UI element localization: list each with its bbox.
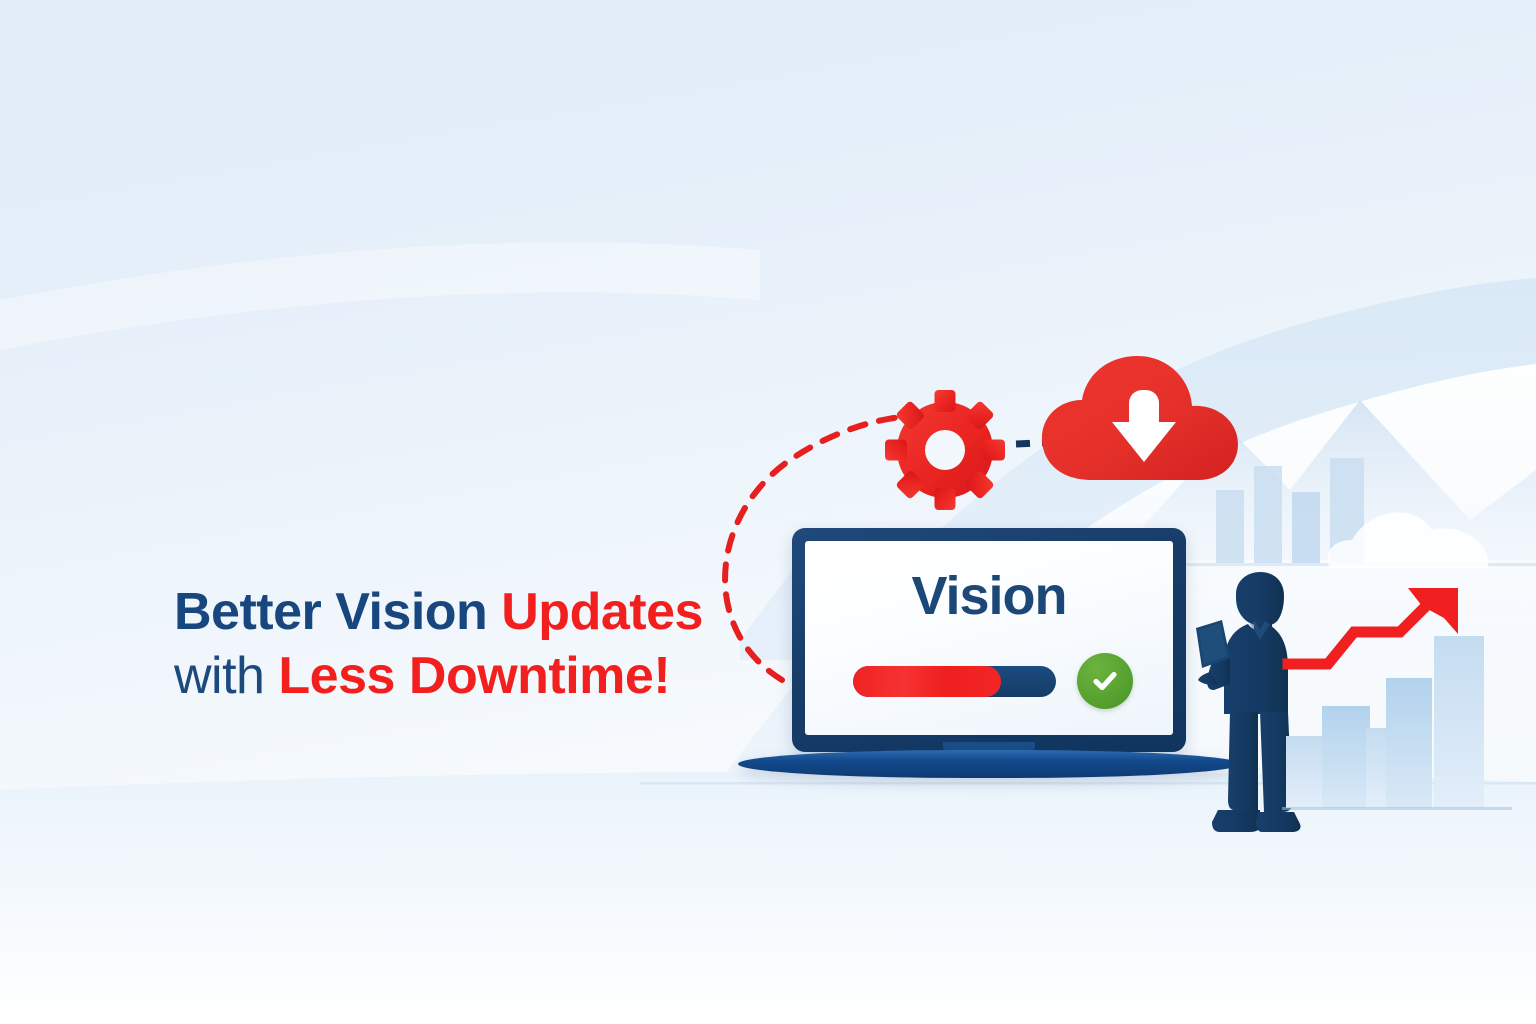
check-icon: [1089, 665, 1121, 697]
gear-icon[interactable]: [884, 389, 1006, 511]
chart-bar-5: [1434, 636, 1484, 808]
laptop-device: Vision: [792, 528, 1186, 752]
progress-bar[interactable]: [853, 666, 1056, 697]
growth-arrow-icon: [1288, 588, 1458, 664]
headline-line-1-red: Updates: [501, 583, 703, 641]
headline-line-2-navy: with: [174, 647, 278, 705]
cloud-download-icon[interactable]: [1036, 352, 1258, 484]
headline-line-1: Better Vision Updates: [174, 586, 774, 638]
progress-bar-fill: [853, 666, 1001, 697]
headline-line-1-navy: Better Vision: [174, 583, 501, 641]
update-progress-row: [853, 653, 1133, 709]
cloud-download-svg: [1036, 352, 1258, 484]
growth-chart-svg: [1282, 588, 1532, 823]
laptop-screen[interactable]: Vision: [805, 541, 1173, 735]
illustration-canvas: Better Vision Updates with Less Downtime…: [0, 0, 1536, 1024]
check-circle-icon: [1077, 653, 1133, 709]
chart-bar-2: [1322, 706, 1370, 808]
background-horizon-upper: [1130, 563, 1536, 566]
laptop-lid: Vision: [792, 528, 1186, 752]
laptop-base: [738, 750, 1240, 778]
background-light-streak: [0, 242, 760, 350]
growth-bar-chart: [1282, 588, 1532, 823]
chart-bar-1: [1286, 736, 1328, 808]
chart-baseline: [1282, 807, 1512, 810]
background-cloud-puff: [1327, 512, 1488, 568]
gear-icon-svg: [884, 389, 1006, 511]
headline-block: Better Vision Updates with Less Downtime…: [174, 586, 774, 702]
screen-title: Vision: [805, 569, 1173, 623]
chart-bar-4: [1386, 678, 1432, 808]
headline-line-2: with Less Downtime!: [174, 650, 774, 702]
headline-line-2-red: Less Downtime!: [278, 647, 670, 705]
